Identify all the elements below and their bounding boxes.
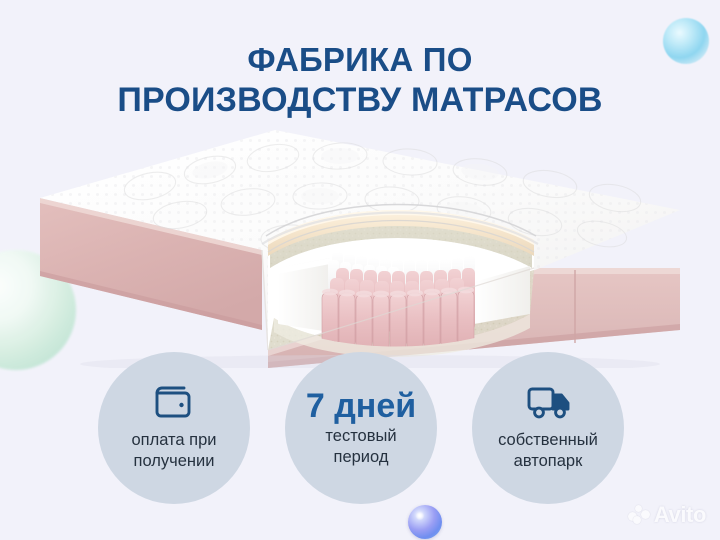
- truck-icon: [525, 384, 571, 422]
- ad-banner-canvas: ФАБРИКА ПО ПРОИЗВОДСТВУ МАТРАСОВ: [0, 0, 720, 540]
- feature-badge-payment-on-delivery[interactable]: оплата при получении: [98, 352, 250, 504]
- wallet-icon: [151, 384, 197, 422]
- avito-logo-icon: [628, 505, 650, 525]
- feature-badge-label: оплата при получении: [131, 430, 216, 472]
- feature-badge-label-line-2: автопарк: [514, 452, 583, 470]
- feature-badge-own-fleet[interactable]: собственный автопарк: [472, 352, 624, 504]
- trial-period-value: 7 дней: [306, 388, 416, 424]
- page-title-line-1: ФАБРИКА ПО: [247, 41, 472, 78]
- feature-badge-label-line-1: собственный: [498, 431, 598, 449]
- feature-badge-label-line-2: период: [334, 448, 389, 466]
- page-title: ФАБРИКА ПО ПРОИЗВОДСТВУ МАТРАСОВ: [0, 40, 720, 120]
- feature-badge-label-line-1: оплата при: [131, 431, 216, 449]
- page-title-line-2: ПРОИЗВОДСТВУ МАТРАСОВ: [0, 80, 720, 120]
- avito-wordmark: Avito: [654, 502, 706, 528]
- feature-badge-trial-period[interactable]: 7 дней тестовый период: [285, 352, 437, 504]
- feature-badge-label: тестовый период: [325, 426, 396, 468]
- avito-watermark: Avito: [628, 502, 706, 528]
- feature-badge-label-line-1: тестовый: [325, 427, 396, 445]
- feature-badge-label: собственный автопарк: [498, 430, 598, 472]
- mattress-cutaway-illustration: [30, 118, 690, 368]
- decorative-sphere-purple-icon: [408, 505, 442, 539]
- feature-badge-label-line-2: получении: [134, 452, 215, 470]
